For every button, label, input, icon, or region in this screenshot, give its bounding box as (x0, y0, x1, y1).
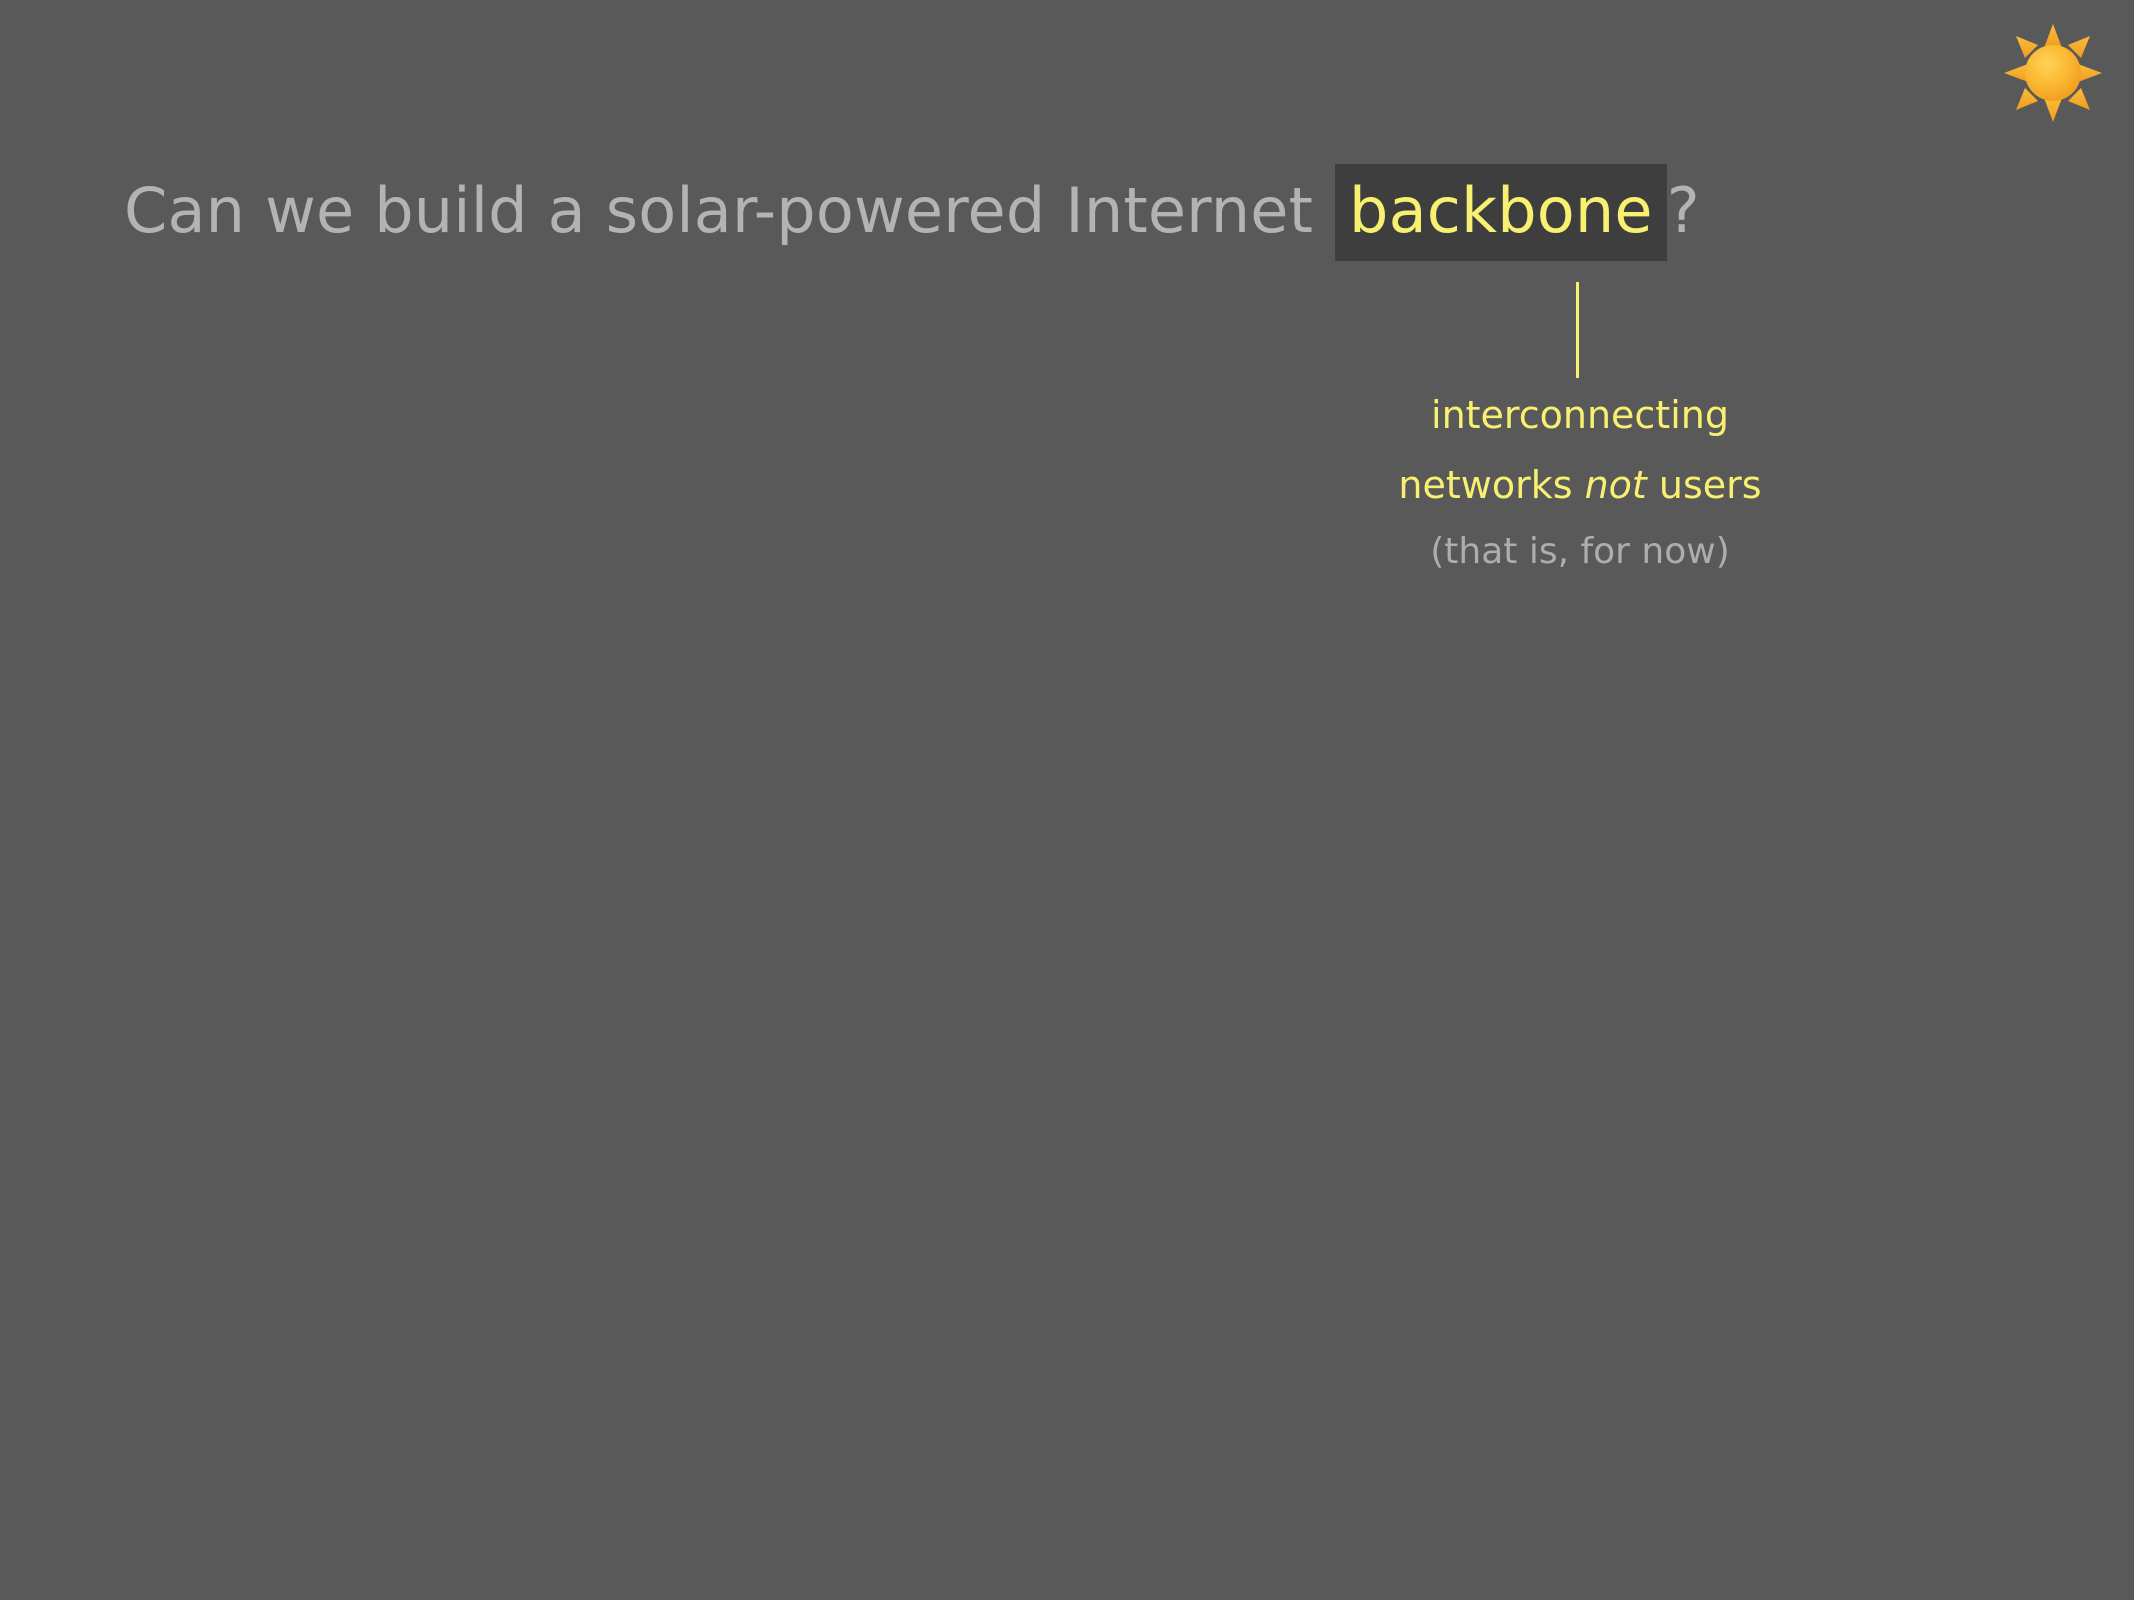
callout-line-2-after: users (1647, 463, 1762, 507)
sun-icon (1988, 8, 2118, 138)
callout-line-2: networks not users (1330, 466, 1830, 504)
callout-line-2-emphasis: not (1585, 463, 1647, 507)
callout-annotation: interconnecting networks not users (that… (1330, 396, 1830, 570)
callout-note: (that is, for now) (1330, 534, 1830, 570)
headline-text-before: Can we build a solar-powered Internet (124, 174, 1333, 247)
headline-highlight-backbone: backbone (1335, 164, 1667, 261)
callout-line-1: interconnecting (1330, 396, 1830, 434)
callout-connector-line (1576, 282, 1579, 378)
callout-line-2-before: networks (1398, 463, 1584, 507)
slide-canvas: Can we build a solar-powered Internet ba… (0, 0, 2134, 1600)
headline-text-after: ? (1667, 174, 1700, 247)
slide-headline: Can we build a solar-powered Internet ba… (124, 180, 1700, 242)
